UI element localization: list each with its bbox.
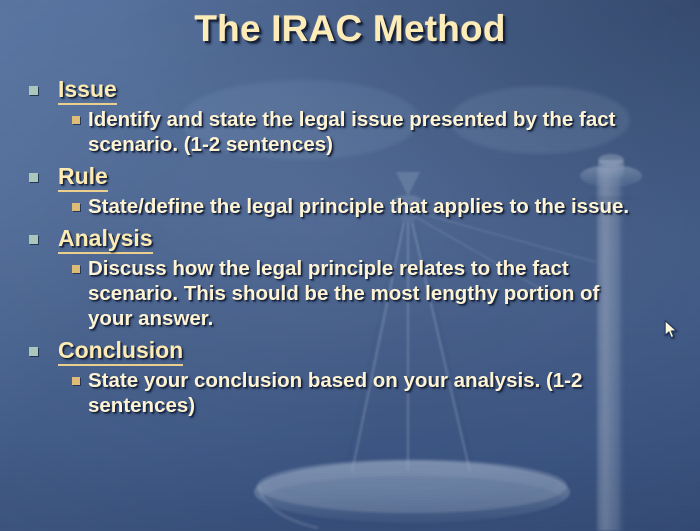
list-item-text: Discuss how the legal principle relates … [88,256,648,331]
small-square-bullet-icon [72,377,80,385]
small-square-bullet-icon [72,265,80,273]
square-bullet-icon [29,173,38,182]
heading-label: Analysis [58,225,153,254]
mouse-pointer-icon [664,320,678,340]
heading-label: Issue [58,76,117,105]
list-item: State your conclusion based on your anal… [0,368,700,418]
heading-label: Rule [58,163,108,192]
square-bullet-icon [29,235,38,244]
list-item-text: State/define the legal principle that ap… [88,194,648,219]
section-heading-rule: Rule [0,163,700,192]
slide-content: The IRAC Method Issue Identify and state… [0,0,700,531]
list-item: Identify and state the legal issue prese… [0,107,700,157]
page-title: The IRAC Method [0,8,700,50]
square-bullet-icon [29,86,38,95]
list-item: Discuss how the legal principle relates … [0,256,700,331]
square-bullet-icon [29,347,38,356]
presentation-slide: The IRAC Method Issue Identify and state… [0,0,700,531]
section-heading-analysis: Analysis [0,225,700,254]
small-square-bullet-icon [72,203,80,211]
bullet-list: Issue Identify and state the legal issue… [0,76,700,424]
small-square-bullet-icon [72,116,80,124]
section-heading-conclusion: Conclusion [0,337,700,366]
list-item-text: State your conclusion based on your anal… [88,368,648,418]
section-heading-issue: Issue [0,76,700,105]
list-item-text: Identify and state the legal issue prese… [88,107,648,157]
list-item: State/define the legal principle that ap… [0,194,700,219]
heading-label: Conclusion [58,337,183,366]
